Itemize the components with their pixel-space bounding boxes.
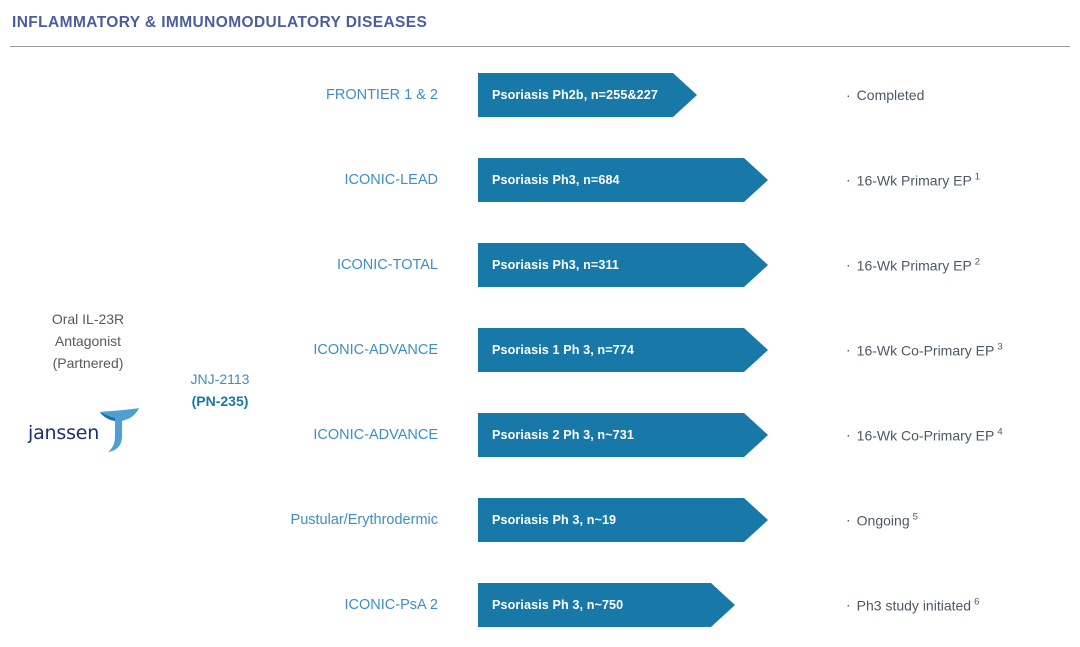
trial-name: Pustular/Erythrodermic (291, 512, 438, 528)
status-text: ·16-Wk Primary EP1 (846, 171, 980, 188)
phase-bar-label: Psoriasis Ph 3, n~750 (492, 598, 623, 612)
status-label: Ph3 study initiated (857, 597, 971, 613)
bullet-icon: · (846, 342, 851, 358)
drug-description: Oral IL-23RAntagonist(Partnered) (18, 308, 158, 374)
header-divider (10, 46, 1070, 47)
drug-code: JNJ-2113 (PN-235) (160, 368, 280, 412)
janssen-swoosh-icon (96, 406, 142, 454)
bullet-icon: · (846, 512, 851, 528)
phase-bar-label: Psoriasis Ph 3, n~19 (492, 513, 616, 527)
drug-code-secondary: (PN-235) (160, 390, 280, 412)
phase-bar-label: Psoriasis Ph3, n=684 (492, 173, 620, 187)
trial-phase-bar: Psoriasis Ph3, n=684 (478, 158, 744, 202)
phase-bar-arrowhead (744, 158, 768, 202)
phase-bar-arrowhead (673, 73, 697, 117)
page-header: INFLAMMATORY & IMMUNOMODULATORY DISEASES (0, 0, 1080, 52)
phase-bar-body: Psoriasis 1 Ph 3, n=774 (478, 328, 744, 372)
phase-bar-body: Psoriasis Ph2b, n=255&227 (478, 73, 673, 117)
trial-name: ICONIC-LEAD (345, 172, 438, 188)
status-text: ·16-Wk Primary EP2 (846, 256, 980, 273)
status-footnote-marker: 2 (975, 256, 980, 267)
trial-phase-bar: Psoriasis Ph2b, n=255&227 (478, 73, 673, 117)
phase-bar-body: Psoriasis Ph3, n=684 (478, 158, 744, 202)
phase-bar-body: Psoriasis Ph3, n=311 (478, 243, 744, 287)
phase-bar-label: Psoriasis 2 Ph 3, n~731 (492, 428, 634, 442)
status-text: ·16-Wk Co-Primary EP4 (846, 426, 1003, 443)
status-label: Ongoing (857, 512, 910, 528)
status-footnote-marker: 1 (975, 171, 980, 182)
status-footnote-marker: 6 (974, 596, 979, 607)
status-label: 16-Wk Co-Primary EP (857, 427, 995, 443)
status-text: ·Ongoing5 (846, 511, 918, 528)
janssen-logo: janssen (28, 408, 140, 456)
pipeline-row: ICONIC-LEADPsoriasis Ph3, n=684·16-Wk Pr… (0, 137, 1080, 222)
phase-bar-body: Psoriasis Ph 3, n~19 (478, 498, 744, 542)
status-text: ·16-Wk Co-Primary EP3 (846, 341, 1003, 358)
phase-bar-arrowhead (744, 328, 768, 372)
status-label: 16-Wk Co-Primary EP (857, 342, 995, 358)
status-text: ·Completed (846, 87, 924, 103)
trial-name: ICONIC-ADVANCE (313, 427, 438, 443)
status-footnote-marker: 4 (997, 426, 1002, 437)
phase-bar-arrowhead (711, 583, 735, 627)
trial-name: ICONIC-PsA 2 (345, 597, 438, 613)
status-label: 16-Wk Primary EP (857, 172, 972, 188)
trial-name: FRONTIER 1 & 2 (326, 87, 438, 103)
phase-bar-label: Psoriasis Ph2b, n=255&227 (492, 88, 658, 102)
pipeline-row: ICONIC-TOTALPsoriasis Ph3, n=311·16-Wk P… (0, 222, 1080, 307)
bullet-icon: · (846, 87, 851, 103)
status-label: 16-Wk Primary EP (857, 257, 972, 273)
status-label: Completed (857, 87, 925, 103)
bullet-icon: · (846, 597, 851, 613)
phase-bar-body: Psoriasis Ph 3, n~750 (478, 583, 711, 627)
drug-description-line: (Partnered) (18, 352, 158, 374)
phase-bar-arrowhead (744, 413, 768, 457)
janssen-wordmark: janssen (28, 422, 99, 444)
trial-phase-bar: Psoriasis Ph 3, n~19 (478, 498, 744, 542)
trial-phase-bar: Psoriasis 1 Ph 3, n=774 (478, 328, 744, 372)
drug-description-line: Oral IL-23R (18, 308, 158, 330)
bullet-icon: · (846, 172, 851, 188)
pipeline-chart: FRONTIER 1 & 2Psoriasis Ph2b, n=255&227·… (0, 52, 1080, 644)
status-footnote-marker: 3 (997, 341, 1002, 352)
trial-phase-bar: Psoriasis 2 Ph 3, n~731 (478, 413, 744, 457)
drug-description-line: Antagonist (18, 330, 158, 352)
page-title: INFLAMMATORY & IMMUNOMODULATORY DISEASES (12, 14, 427, 32)
phase-bar-body: Psoriasis 2 Ph 3, n~731 (478, 413, 744, 457)
pipeline-row: Pustular/ErythrodermicPsoriasis Ph 3, n~… (0, 477, 1080, 562)
pipeline-row: FRONTIER 1 & 2Psoriasis Ph2b, n=255&227·… (0, 52, 1080, 137)
bullet-icon: · (846, 427, 851, 443)
status-text: ·Ph3 study initiated6 (846, 596, 979, 613)
bullet-icon: · (846, 257, 851, 273)
drug-code-primary: JNJ-2113 (160, 368, 280, 390)
trial-phase-bar: Psoriasis Ph3, n=311 (478, 243, 744, 287)
pipeline-row: ICONIC-PsA 2Psoriasis Ph 3, n~750·Ph3 st… (0, 562, 1080, 647)
phase-bar-label: Psoriasis 1 Ph 3, n=774 (492, 343, 634, 357)
phase-bar-label: Psoriasis Ph3, n=311 (492, 258, 619, 272)
status-footnote-marker: 5 (913, 511, 918, 522)
phase-bar-arrowhead (744, 243, 768, 287)
trial-name: ICONIC-TOTAL (337, 257, 438, 273)
trial-phase-bar: Psoriasis Ph 3, n~750 (478, 583, 711, 627)
trial-name: ICONIC-ADVANCE (313, 342, 438, 358)
phase-bar-arrowhead (744, 498, 768, 542)
